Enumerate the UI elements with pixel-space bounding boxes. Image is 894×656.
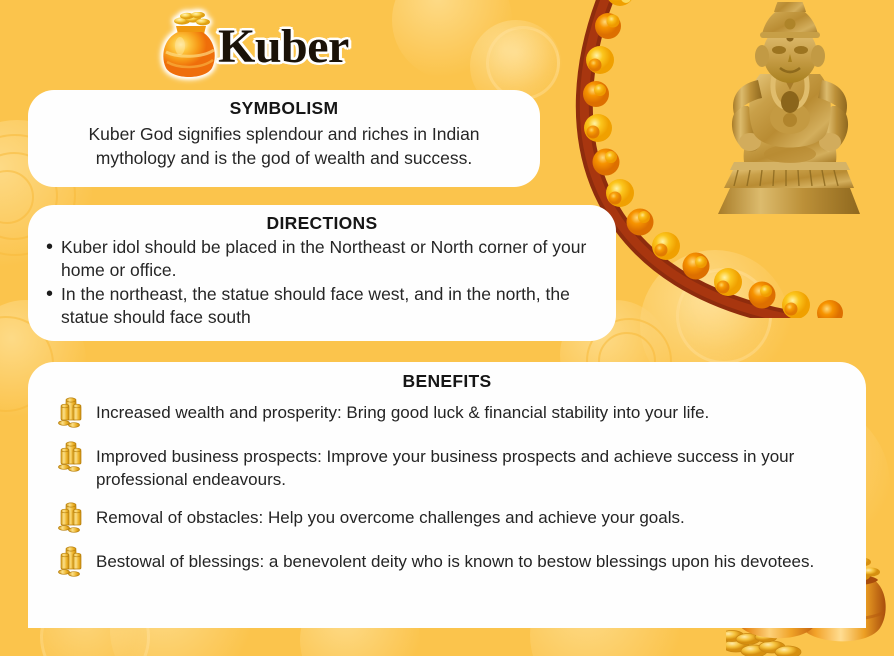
list-item: Improved business prospects: Improve you… [56, 442, 850, 491]
benefit-item-text: Increased wealth and prosperity: Bring g… [96, 398, 850, 424]
benefit-item-text: Improved business prospects: Improve you… [96, 442, 850, 491]
kuber-infographic-poster: Kuber SYMBOLISM Kuber God signifies sple… [0, 0, 894, 656]
brand-logo: Kuber [158, 12, 349, 82]
symbolism-card: SYMBOLISM Kuber God signifies splendour … [28, 90, 540, 187]
benefits-card: BENEFITS [28, 362, 866, 628]
list-item: • Kuber idol should be placed in the Nor… [46, 236, 602, 283]
list-item: Bestowal of blessings: a benevolent deit… [56, 547, 850, 579]
directions-card: DIRECTIONS • Kuber idol should be placed… [28, 205, 616, 341]
coin-stack-icon [56, 396, 86, 430]
benefit-item-text: Removal of obstacles: Help you overcome … [96, 503, 850, 529]
directions-item-text: In the northeast, the statue should face… [61, 283, 602, 330]
directions-title: DIRECTIONS [28, 205, 616, 234]
coin-stack-icon [56, 440, 86, 474]
coin-stack-icon [56, 501, 86, 535]
list-item: Increased wealth and prosperity: Bring g… [56, 398, 850, 430]
directions-item-text: Kuber idol should be placed in the North… [61, 236, 602, 283]
benefits-title: BENEFITS [28, 362, 866, 392]
list-item: Removal of obstacles: Help you overcome … [56, 503, 850, 535]
brand-name: Kuber [218, 23, 349, 71]
symbolism-title: SYMBOLISM [28, 90, 540, 119]
list-item: • In the northeast, the statue should fa… [46, 283, 602, 330]
bullet-icon: • [46, 236, 61, 260]
benefits-list: Increased wealth and prosperity: Bring g… [28, 392, 866, 579]
gold-pot-icon [158, 12, 220, 82]
benefit-item-text: Bestowal of blessings: a benevolent deit… [96, 547, 850, 573]
directions-list: • Kuber idol should be placed in the Nor… [28, 234, 616, 330]
coin-stack-icon [56, 545, 86, 579]
bullet-icon: • [46, 283, 61, 307]
symbolism-body: Kuber God signifies splendour and riches… [28, 119, 540, 170]
kuber-idol-image [700, 2, 880, 232]
